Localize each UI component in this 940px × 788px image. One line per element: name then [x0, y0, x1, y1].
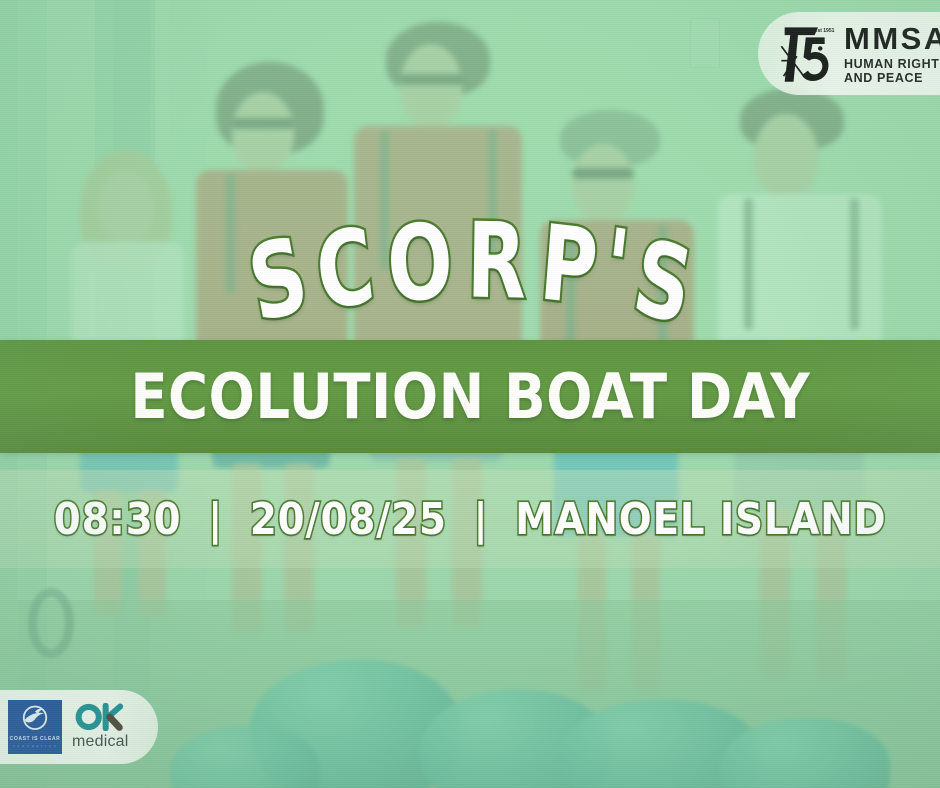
ok-capsule-icon: [75, 703, 125, 731]
mmsa-75-anniversary-icon: est 1951: [780, 24, 836, 84]
details-separator: |: [196, 494, 236, 545]
mmsa-tagline-line2: AND PEACE: [844, 72, 940, 85]
event-poster: S C O R P ' S ECOLUTION BOAT DAY 08:30 |…: [0, 0, 940, 788]
coast-is-clear-subtitle: f o u n d a t i o n: [13, 744, 56, 748]
coast-is-clear-name: COAST IS CLEAR: [10, 736, 61, 742]
event-name-band: ECOLUTION BOAT DAY: [0, 340, 940, 453]
dolphin-icon: [20, 705, 50, 732]
event-details-text: 08:30 | 20/08/25 | MANOEL ISLAND: [54, 494, 887, 545]
mmsa-name: MMSA: [844, 23, 940, 54]
event-date: 20/08/25: [250, 494, 447, 545]
mmsa-tagline-line1: HUMAN RIGHTS: [844, 58, 940, 71]
event-location: MANOEL ISLAND: [515, 494, 886, 545]
event-name-text: ECOLUTION BOAT DAY: [130, 360, 810, 433]
ok-medical-logo: medical: [72, 703, 129, 751]
mmsa-logo: est 1951 MMSA HUMAN RIGHTS AND PEACE: [758, 12, 940, 95]
event-time: 08:30: [54, 494, 182, 545]
ok-medical-name: medical: [72, 733, 129, 751]
event-details-band: 08:30 | 20/08/25 | MANOEL ISLAND: [0, 470, 940, 568]
coast-is-clear-logo: COAST IS CLEAR f o u n d a t i o n: [8, 700, 62, 754]
sponsor-logos: COAST IS CLEAR f o u n d a t i o n medic…: [0, 690, 158, 764]
details-separator: |: [461, 494, 501, 545]
mmsa-established-text: est 1951: [815, 27, 835, 33]
